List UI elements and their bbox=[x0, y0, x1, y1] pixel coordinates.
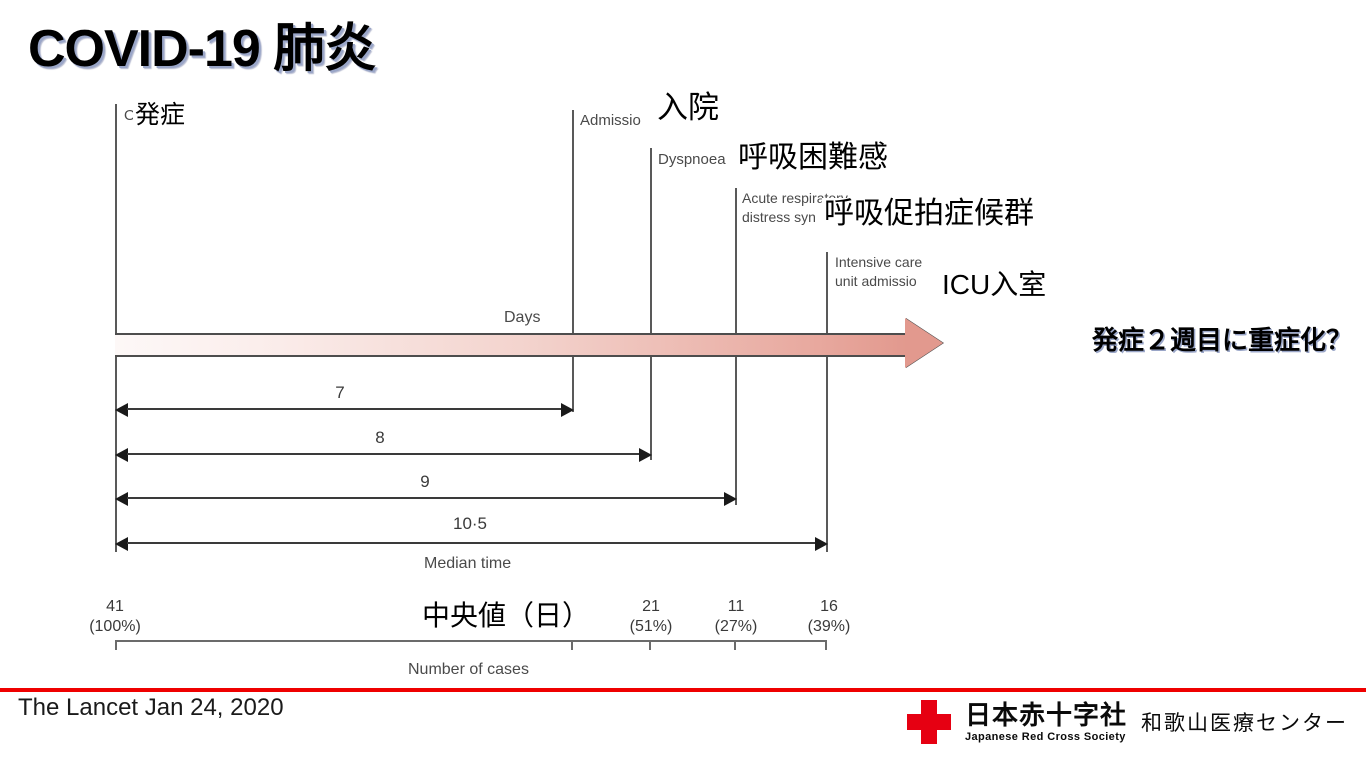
case-axis-tick-dyspnoea bbox=[649, 640, 651, 650]
median-arrow-9 bbox=[115, 491, 737, 507]
source-citation: The Lancet Jan 24, 2020 bbox=[18, 694, 284, 722]
case-count-dyspnoea: 21 (51%) bbox=[611, 597, 691, 637]
median-arrow-7 bbox=[115, 402, 574, 418]
arrow-head-right-10-5 bbox=[815, 537, 828, 551]
case-count-icu-pct: (39%) bbox=[789, 617, 869, 637]
arrow-line-7 bbox=[127, 408, 563, 410]
time-arrow-head bbox=[905, 318, 943, 368]
ards-line-2: distress syn bbox=[742, 209, 816, 225]
arrow-head-left-7 bbox=[115, 403, 128, 417]
emphasis-callout: 発症２週目に重症化？ bbox=[1092, 320, 1352, 357]
event-rule-dyspnoea bbox=[650, 148, 652, 460]
event-label-jp-onset: 発症 bbox=[133, 99, 187, 131]
median-time-label: Median time bbox=[424, 555, 511, 573]
arrow-head-left-10-5 bbox=[115, 537, 128, 551]
case-axis-line bbox=[115, 640, 827, 642]
case-count-icu: 16 (39%) bbox=[789, 597, 869, 637]
arrow-head-left-8 bbox=[115, 448, 128, 462]
arrow-head-right-9 bbox=[724, 492, 737, 506]
number-of-cases-label: Number of cases bbox=[408, 661, 529, 679]
case-count-icu-n: 16 bbox=[789, 597, 869, 617]
red-cross-vertical-bar bbox=[921, 700, 937, 744]
case-count-onset: 41 (100%) bbox=[75, 597, 155, 637]
median-arrow-10-5 bbox=[115, 536, 828, 552]
medical-center-name: 和歌山医療センター bbox=[1141, 707, 1348, 737]
event-label-en-admission: Admissio bbox=[580, 111, 641, 130]
time-arrow bbox=[115, 331, 943, 355]
case-axis-tick-onset bbox=[115, 640, 117, 650]
arrow-line-9 bbox=[127, 497, 726, 499]
arrow-head-left-9 bbox=[115, 492, 128, 506]
case-count-ards-pct: (27%) bbox=[696, 617, 776, 637]
arrow-line-10-5 bbox=[127, 542, 817, 544]
time-arrow-body bbox=[115, 333, 907, 357]
event-label-jp-dyspnoea: 呼吸困難感 bbox=[736, 142, 890, 174]
event-rule-onset bbox=[115, 104, 117, 552]
red-cross-icon bbox=[907, 700, 951, 744]
median-value-8: 8 bbox=[340, 428, 420, 448]
jrc-name-en: Japanese Red Cross Society bbox=[965, 732, 1127, 743]
case-count-dyspnoea-pct: (51%) bbox=[611, 617, 691, 637]
event-label-jp-ards: 呼吸促拍症候群 bbox=[822, 198, 1036, 230]
icu-line-2: unit admissio bbox=[835, 273, 917, 289]
arrow-head-right-8 bbox=[639, 448, 652, 462]
case-axis-tick-admission bbox=[571, 640, 573, 650]
arrow-line-8 bbox=[127, 453, 641, 455]
arrow-head-right-7 bbox=[561, 403, 574, 417]
case-count-axis bbox=[115, 640, 829, 652]
median-value-7: 7 bbox=[300, 383, 380, 403]
case-count-ards: 11 (27%) bbox=[696, 597, 776, 637]
case-count-jp-label: 中央値（日） bbox=[420, 600, 592, 632]
case-count-onset-n: 41 bbox=[75, 597, 155, 617]
event-label-jp-admission: 入院 bbox=[655, 92, 721, 124]
case-count-ards-n: 11 bbox=[696, 597, 776, 617]
median-value-9: 9 bbox=[385, 472, 465, 492]
event-rule-admission bbox=[572, 110, 574, 412]
icu-line-1: Intensive care bbox=[835, 254, 922, 270]
event-label-jp-icu: ICU入室 bbox=[940, 269, 1048, 301]
case-count-onset-pct: (100%) bbox=[75, 617, 155, 637]
median-arrow-8 bbox=[115, 447, 652, 463]
case-axis-tick-icu bbox=[825, 640, 827, 650]
case-axis-tick-ards bbox=[734, 640, 736, 650]
event-rule-icu bbox=[826, 252, 828, 552]
footer-divider bbox=[0, 688, 1366, 692]
event-label-en-dyspnoea: Dyspnoea bbox=[658, 150, 726, 169]
jrc-logo: 日本赤十字社 Japanese Red Cross Society 和歌山医療セ… bbox=[907, 700, 1348, 744]
jrc-wordmark: 日本赤十字社 Japanese Red Cross Society bbox=[965, 702, 1127, 743]
median-value-10-5: 10·5 bbox=[430, 514, 510, 534]
case-count-dyspnoea-n: 21 bbox=[611, 597, 691, 617]
days-axis-label: Days bbox=[504, 309, 540, 327]
jrc-name-ja: 日本赤十字社 bbox=[965, 702, 1127, 728]
